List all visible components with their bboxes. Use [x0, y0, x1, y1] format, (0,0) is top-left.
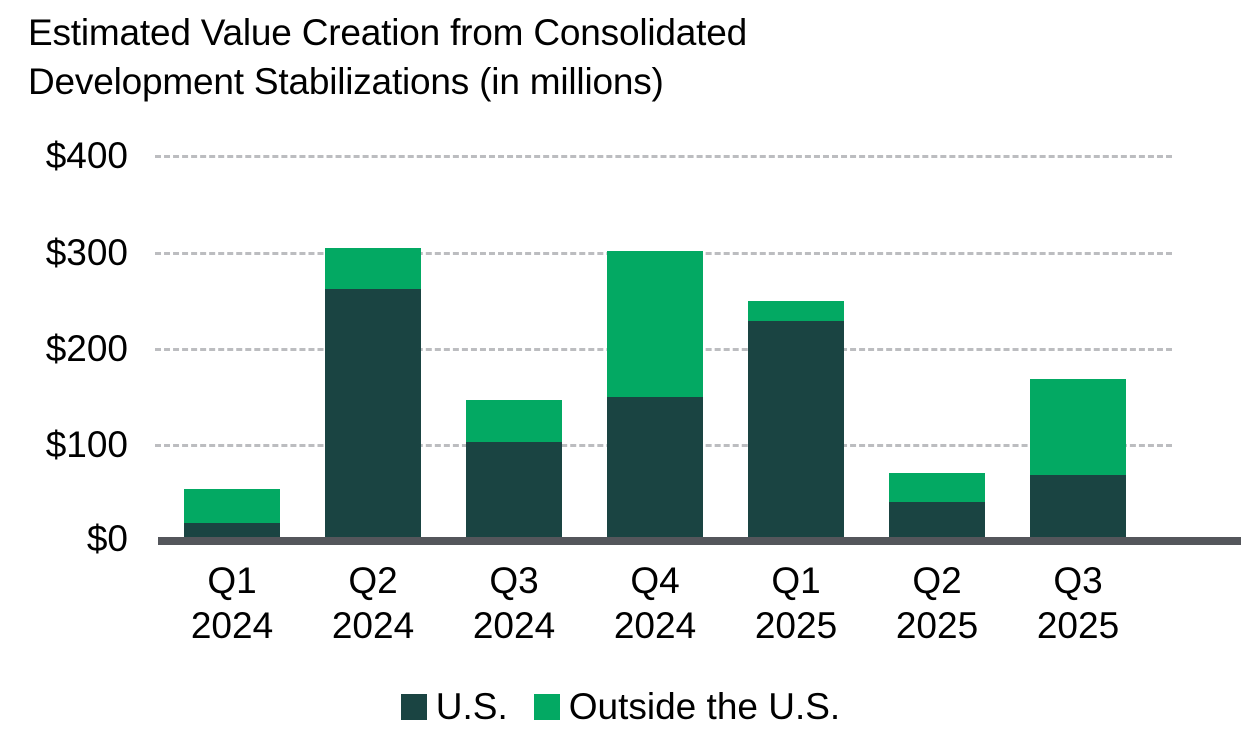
x-axis-label-q1-2024: Q1 2024 — [157, 558, 307, 648]
bar-group-q3-2024[interactable] — [466, 0, 562, 537]
x-axis-label-quarter: Q2 — [862, 558, 1012, 603]
x-axis-label-quarter: Q3 — [439, 558, 589, 603]
bar-segment-us[interactable] — [184, 523, 280, 537]
x-axis-label-year: 2024 — [298, 603, 448, 648]
x-axis-label-quarter: Q1 — [157, 558, 307, 603]
x-axis-label-quarter: Q2 — [298, 558, 448, 603]
x-axis-label-q4-2024: Q4 2024 — [580, 558, 730, 648]
x-axis-label-year: 2025 — [862, 603, 1012, 648]
x-axis-line — [158, 537, 1241, 545]
chart-legend: U.S. Outside the U.S. — [0, 688, 1241, 725]
bar-stack — [325, 248, 421, 537]
bar-segment-outside-us[interactable] — [1030, 379, 1126, 475]
bar-group-q1-2025[interactable] — [748, 0, 844, 537]
x-axis-label-q1-2025: Q1 2025 — [721, 558, 871, 648]
y-axis-tick-label-100: $100 — [0, 426, 128, 463]
x-axis-label-year: 2025 — [721, 603, 871, 648]
x-axis-label-q2-2024: Q2 2024 — [298, 558, 448, 648]
bar-stack — [1030, 379, 1126, 537]
bar-stack — [466, 400, 562, 537]
y-axis-tick-label-0: $0 — [0, 520, 128, 557]
bar-segment-outside-us[interactable] — [466, 400, 562, 441]
bar-segment-us[interactable] — [748, 321, 844, 537]
y-axis-tick-label-400: $400 — [0, 137, 128, 174]
legend-label-us: U.S. — [436, 688, 508, 725]
chart-plot-area: $400 $300 $200 $100 $0 — [0, 0, 1241, 741]
bar-stack — [607, 251, 703, 537]
bar-segment-outside-us[interactable] — [748, 301, 844, 321]
bar-segment-us[interactable] — [607, 397, 703, 537]
x-axis-label-year: 2024 — [439, 603, 589, 648]
bar-segment-us[interactable] — [325, 289, 421, 537]
x-axis-label-quarter: Q1 — [721, 558, 871, 603]
legend-label-outside-us: Outside the U.S. — [569, 688, 840, 725]
bar-stack — [748, 301, 844, 537]
bar-segment-us[interactable] — [1030, 475, 1126, 537]
legend-item-outside-us[interactable]: Outside the U.S. — [534, 688, 840, 725]
bar-group-q2-2024[interactable] — [325, 0, 421, 537]
x-axis-label-q3-2024: Q3 2024 — [439, 558, 589, 648]
bar-group-q3-2025[interactable] — [1030, 0, 1126, 537]
bar-group-q4-2024[interactable] — [607, 0, 703, 537]
bar-group-q1-2024[interactable] — [184, 0, 280, 537]
bar-segment-outside-us[interactable] — [184, 489, 280, 522]
bar-segment-outside-us[interactable] — [325, 248, 421, 289]
x-axis-label-quarter: Q4 — [580, 558, 730, 603]
bar-stack — [184, 489, 280, 537]
bar-group-q2-2025[interactable] — [889, 0, 985, 537]
x-axis-label-q3-2025: Q3 2025 — [1003, 558, 1153, 648]
x-axis-label-q2-2025: Q2 2025 — [862, 558, 1012, 648]
x-axis-label-year: 2025 — [1003, 603, 1153, 648]
x-axis-label-year: 2024 — [157, 603, 307, 648]
y-axis-tick-label-300: $300 — [0, 234, 128, 271]
legend-item-us[interactable]: U.S. — [401, 688, 508, 725]
bar-segment-outside-us[interactable] — [889, 473, 985, 502]
bar-segment-us[interactable] — [466, 442, 562, 538]
legend-swatch-icon — [401, 694, 427, 720]
bar-segment-outside-us[interactable] — [607, 251, 703, 397]
legend-swatch-icon — [534, 694, 560, 720]
bar-stack — [889, 473, 985, 537]
x-axis-label-year: 2024 — [580, 603, 730, 648]
bar-segment-us[interactable] — [889, 502, 985, 537]
y-axis-tick-label-200: $200 — [0, 330, 128, 367]
x-axis-label-quarter: Q3 — [1003, 558, 1153, 603]
